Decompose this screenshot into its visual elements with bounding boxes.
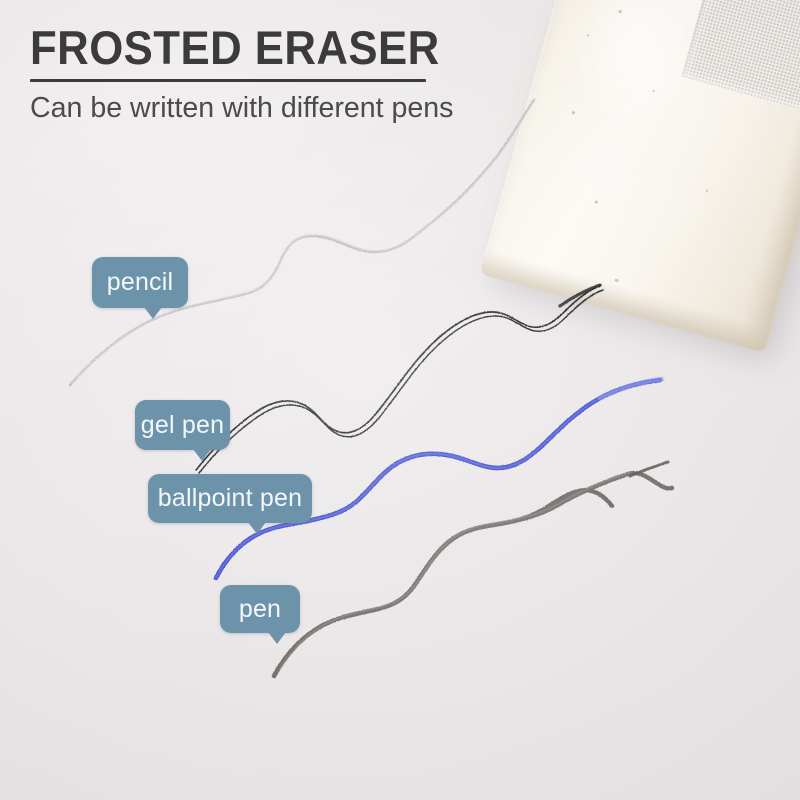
callout-gel-pen-tail xyxy=(193,449,211,461)
title-underline xyxy=(30,79,426,82)
page-title: FROSTED ERASER xyxy=(30,24,440,71)
callout-pen-tail xyxy=(268,632,286,644)
eraser-speck xyxy=(614,278,619,282)
eraser-speck xyxy=(594,200,598,204)
callout-ballpoint-pen-label: ballpoint pen xyxy=(158,484,302,513)
callout-pen: pen xyxy=(220,585,300,633)
callout-ballpoint-pen: ballpoint pen xyxy=(148,474,312,523)
eraser-speck xyxy=(706,190,708,192)
callout-pencil: pencil xyxy=(92,257,188,308)
callout-pencil-label: pencil xyxy=(107,268,174,297)
callout-pen-label: pen xyxy=(239,595,281,624)
callout-pencil-tail xyxy=(144,307,162,319)
product-feature-image: FROSTED ERASER Can be written with diffe… xyxy=(0,0,800,800)
header: FROSTED ERASER Can be written with diffe… xyxy=(30,24,471,125)
page-subtitle: Can be written with different pens xyxy=(30,93,464,125)
callout-gel-pen: gel pen xyxy=(135,400,230,450)
callout-ballpoint-pen-tail xyxy=(248,522,266,534)
callout-gel-pen-label: gel pen xyxy=(141,411,224,440)
